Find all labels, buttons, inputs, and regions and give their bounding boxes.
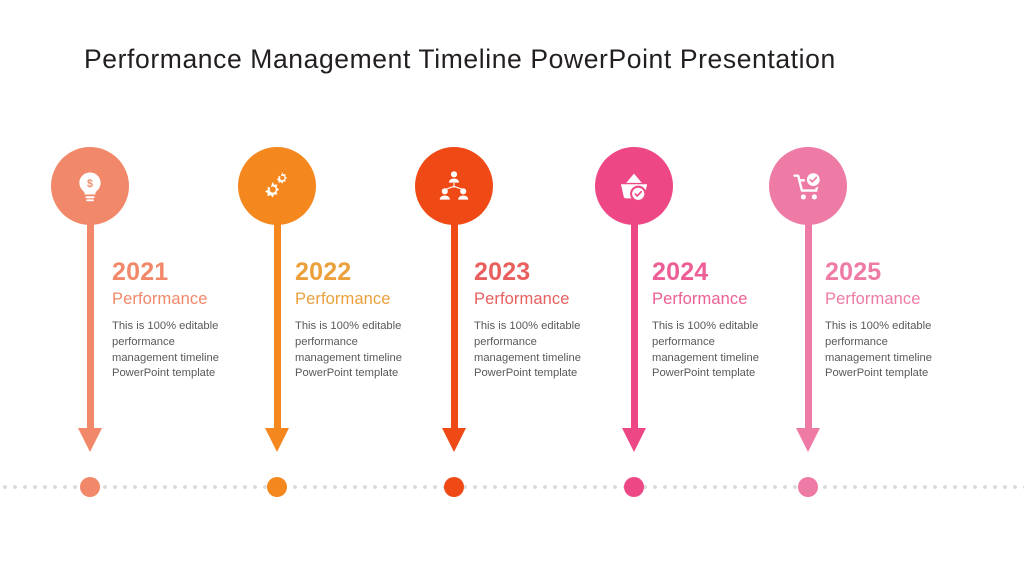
- timeline-subtitle: Performance: [474, 289, 624, 310]
- timeline-year: 2024: [652, 258, 802, 287]
- timeline-dot[interactable]: [624, 477, 644, 497]
- timeline-description: This is 100% editable performance manage…: [652, 319, 780, 382]
- timeline-text-block: 2021 Performance This is 100% editable p…: [112, 258, 262, 382]
- timeline-text-block: 2024 Performance This is 100% editable p…: [652, 258, 802, 382]
- timeline-description: This is 100% editable performance manage…: [825, 319, 953, 382]
- timeline-text-block: 2023 Performance This is 100% editable p…: [474, 258, 624, 382]
- org-chart-icon: [437, 169, 471, 203]
- presentation-slide: Performance Management Timeline PowerPoi…: [0, 0, 1024, 576]
- connector-line: [274, 215, 281, 433]
- gears-icon: [260, 169, 294, 203]
- timeline-dot[interactable]: [267, 477, 287, 497]
- connector-line: [451, 215, 458, 433]
- timeline-description: This is 100% editable performance manage…: [112, 319, 240, 382]
- timeline-dot[interactable]: [798, 477, 818, 497]
- timeline-text-block: 2025 Performance This is 100% editable p…: [825, 258, 975, 382]
- timeline-description: This is 100% editable performance manage…: [474, 319, 602, 382]
- page-title: Performance Management Timeline PowerPoi…: [84, 44, 836, 75]
- lightbulb-dollar-icon: $: [73, 169, 107, 203]
- timeline-subtitle: Performance: [652, 289, 802, 310]
- timeline-marker-circle[interactable]: [415, 147, 493, 225]
- connector-arrowhead: [796, 428, 820, 452]
- timeline-dot[interactable]: [444, 477, 464, 497]
- connector-arrowhead: [622, 428, 646, 452]
- timeline-text-block: 2022 Performance This is 100% editable p…: [295, 258, 445, 382]
- timeline-year: 2023: [474, 258, 624, 287]
- timeline-year: 2022: [295, 258, 445, 287]
- timeline-marker-circle[interactable]: [238, 147, 316, 225]
- timeline-subtitle: Performance: [295, 289, 445, 310]
- connector-line: [631, 215, 638, 433]
- svg-text:$: $: [87, 178, 93, 190]
- timeline-subtitle: Performance: [825, 289, 975, 310]
- timeline-marker-circle[interactable]: [769, 147, 847, 225]
- connector-arrowhead: [78, 428, 102, 452]
- timeline-year: 2021: [112, 258, 262, 287]
- connector-arrowhead: [265, 428, 289, 452]
- timeline-subtitle: Performance: [112, 289, 262, 310]
- basket-check-icon: [617, 169, 651, 203]
- timeline-description: This is 100% editable performance manage…: [295, 319, 423, 382]
- connector-line: [805, 215, 812, 433]
- timeline-dot[interactable]: [80, 477, 100, 497]
- timeline-marker-circle[interactable]: [595, 147, 673, 225]
- timeline-year: 2025: [825, 258, 975, 287]
- timeline-baseline: [0, 485, 1024, 489]
- connector-line: [87, 215, 94, 433]
- cart-check-icon: [791, 169, 825, 203]
- timeline-marker-circle[interactable]: $: [51, 147, 129, 225]
- connector-arrowhead: [442, 428, 466, 452]
